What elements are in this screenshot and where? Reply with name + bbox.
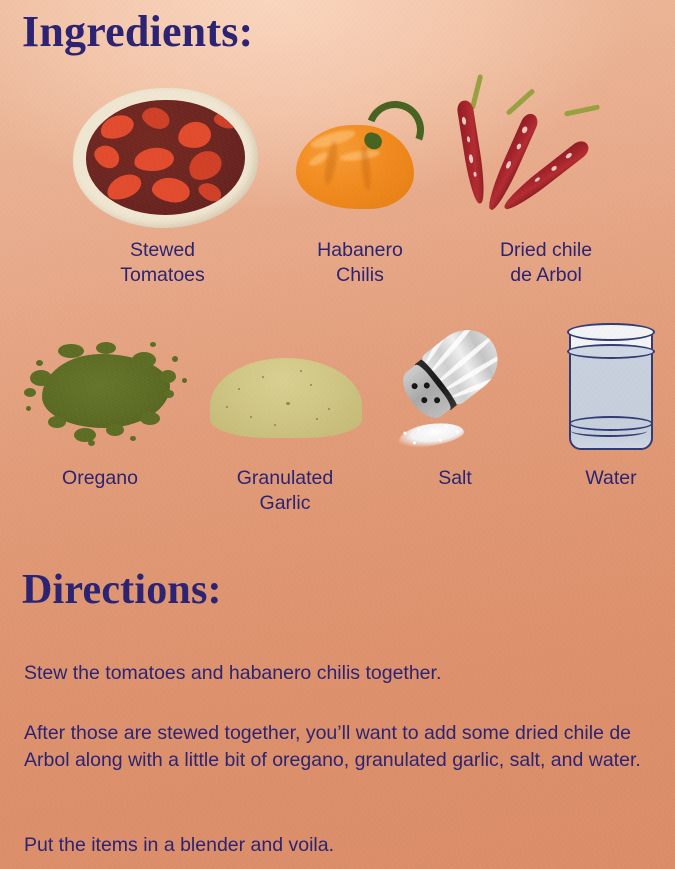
label-line-2: Garlic bbox=[218, 491, 352, 516]
chile-pepper bbox=[456, 99, 488, 204]
label-line-2: Tomatoes bbox=[95, 263, 230, 288]
garlic-pile bbox=[210, 358, 362, 438]
ingredient-label-water: Water bbox=[561, 466, 661, 491]
ingredient-label-oregano: Oregano bbox=[40, 466, 160, 491]
directions-heading: Directions: bbox=[22, 566, 222, 614]
label-line-1: Oregano bbox=[40, 466, 160, 491]
label-line-1: Stewed bbox=[95, 238, 230, 263]
spilled-salt bbox=[397, 420, 465, 451]
direction-step-2: After those are stewed together, you’ll … bbox=[24, 720, 656, 774]
water-glass-icon bbox=[569, 330, 653, 450]
ingredient-label-dried-chile-de-arbol: Dried chile de Arbol bbox=[480, 238, 612, 288]
habanero-pepper-icon bbox=[292, 95, 427, 225]
dried-chile-peppers-icon bbox=[452, 78, 652, 218]
glass-rim bbox=[567, 323, 655, 341]
label-line-1: Dried chile bbox=[480, 238, 612, 263]
label-line-2: de Arbol bbox=[480, 263, 612, 288]
bowl-interior bbox=[86, 100, 245, 215]
ingredient-label-habanero-chilis: Habanero Chilis bbox=[295, 238, 425, 288]
ingredient-label-salt: Salt bbox=[405, 466, 505, 491]
oregano-herb-pile-icon bbox=[22, 340, 192, 450]
ingredients-heading: Ingredients: bbox=[22, 6, 253, 57]
label-line-1: Habanero bbox=[295, 238, 425, 263]
direction-step-3: Put the items in a blender and voila. bbox=[24, 832, 624, 859]
water-surface-line bbox=[567, 344, 655, 359]
label-line-1: Salt bbox=[405, 466, 505, 491]
label-line-2: Chilis bbox=[295, 263, 425, 288]
label-line-1: Granulated bbox=[218, 466, 352, 491]
ingredient-label-stewed-tomatoes: Stewed Tomatoes bbox=[95, 238, 230, 288]
direction-step-1: Stew the tomatoes and habanero chilis to… bbox=[24, 660, 644, 687]
glass-base-line-secondary bbox=[571, 425, 647, 437]
recipe-card: Ingredients: Stewed Tomatoes bbox=[0, 0, 675, 869]
ingredient-label-granulated-garlic: Granulated Garlic bbox=[218, 466, 352, 516]
shaker-assembly bbox=[397, 319, 508, 424]
salt-shaker-icon bbox=[398, 352, 518, 458]
bowl-of-stewed-tomatoes-icon bbox=[73, 88, 258, 228]
label-line-1: Water bbox=[561, 466, 661, 491]
granulated-garlic-mound-icon bbox=[210, 358, 362, 440]
